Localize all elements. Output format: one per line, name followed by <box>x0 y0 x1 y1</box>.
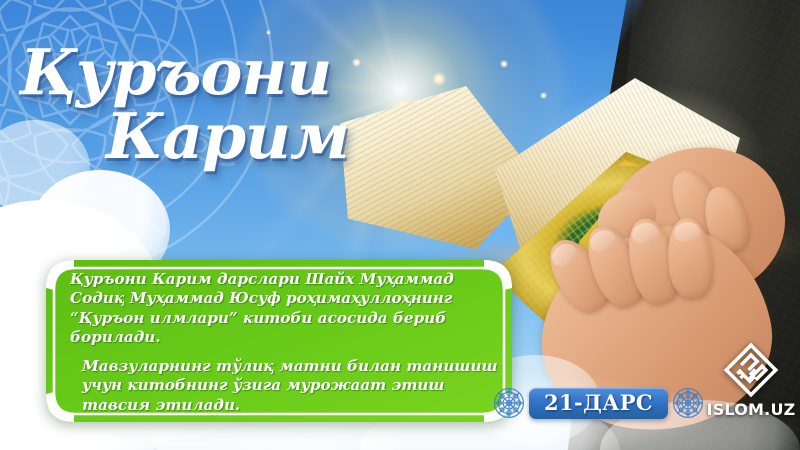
logo-text: ISLOM.UZ <box>706 400 796 419</box>
lesson-number-label[interactable]: 21-ДАРС <box>529 388 668 419</box>
fingernail <box>587 226 619 255</box>
site-logo[interactable]: ISLOM.UZ <box>706 342 796 419</box>
description-paragraph-2: Мавзуларнинг тўлиқ матни билан танишиш у… <box>70 357 498 415</box>
islamic-lesson-banner: Қуръони Карим Қуръ <box>0 0 800 450</box>
rosette-ornament-icon <box>671 386 705 420</box>
description-text: Қуръони Карим дарслари Шайх Муҳаммад Сод… <box>70 270 498 416</box>
kufic-square-calligraphy-icon <box>723 342 779 398</box>
lesson-badge[interactable]: 21-ДАРС <box>492 386 705 420</box>
description-paragraph-1: Қуръони Карим дарслари Шайх Муҳаммад Сод… <box>70 270 498 348</box>
description-panel: Қуръони Карим дарслари Шайх Муҳаммад Сод… <box>44 258 514 424</box>
rosette-ornament-icon <box>492 386 526 420</box>
fingernail <box>630 220 660 246</box>
fingernail <box>673 221 701 244</box>
